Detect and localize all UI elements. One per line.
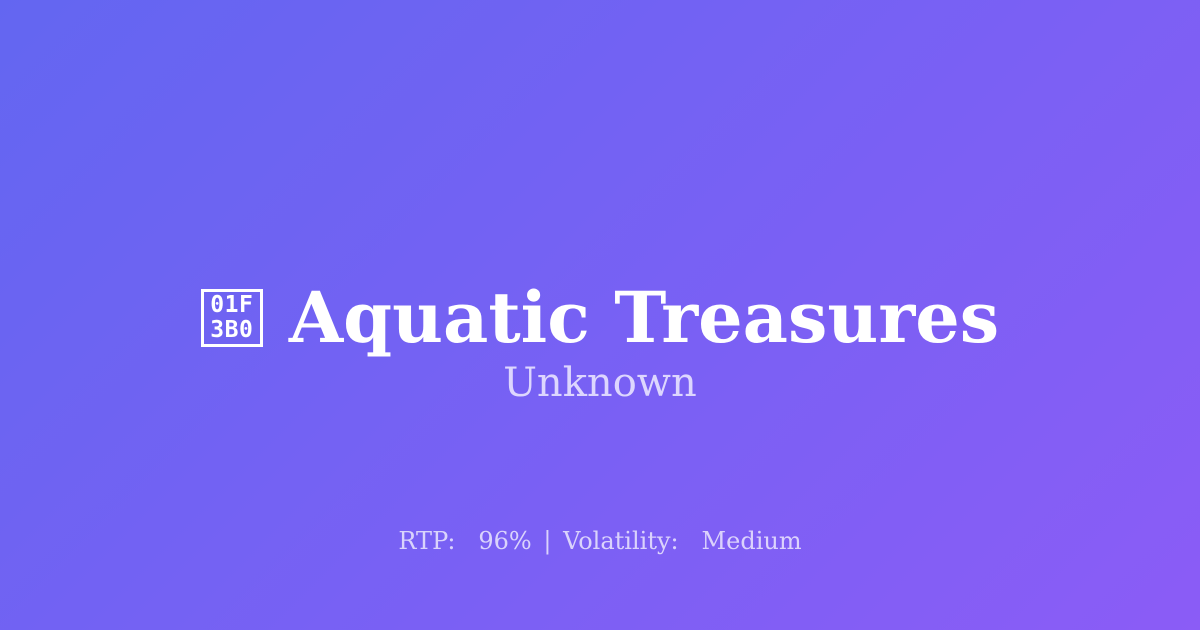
- game-meta-line: RTP: 96% | Volatility: Medium: [0, 529, 1200, 553]
- meta-separator: |: [539, 527, 555, 555]
- volatility-value: Medium: [702, 527, 802, 555]
- page-title: Aquatic Treasures: [289, 283, 999, 353]
- rtp-value: 96%: [478, 527, 531, 555]
- tofu-codepoint-row-bottom: 3B0: [210, 318, 253, 343]
- rtp-label: RTP:: [398, 527, 455, 555]
- provider-subtitle: Unknown: [0, 363, 1200, 403]
- slot-machine-icon: 01F 3B0: [201, 289, 263, 347]
- open-graph-card: 01F 3B0 Aquatic Treasures Unknown RTP: 9…: [0, 0, 1200, 630]
- volatility-label: Volatility:: [563, 527, 679, 555]
- tofu-codepoint-row-top: 01F: [210, 293, 253, 318]
